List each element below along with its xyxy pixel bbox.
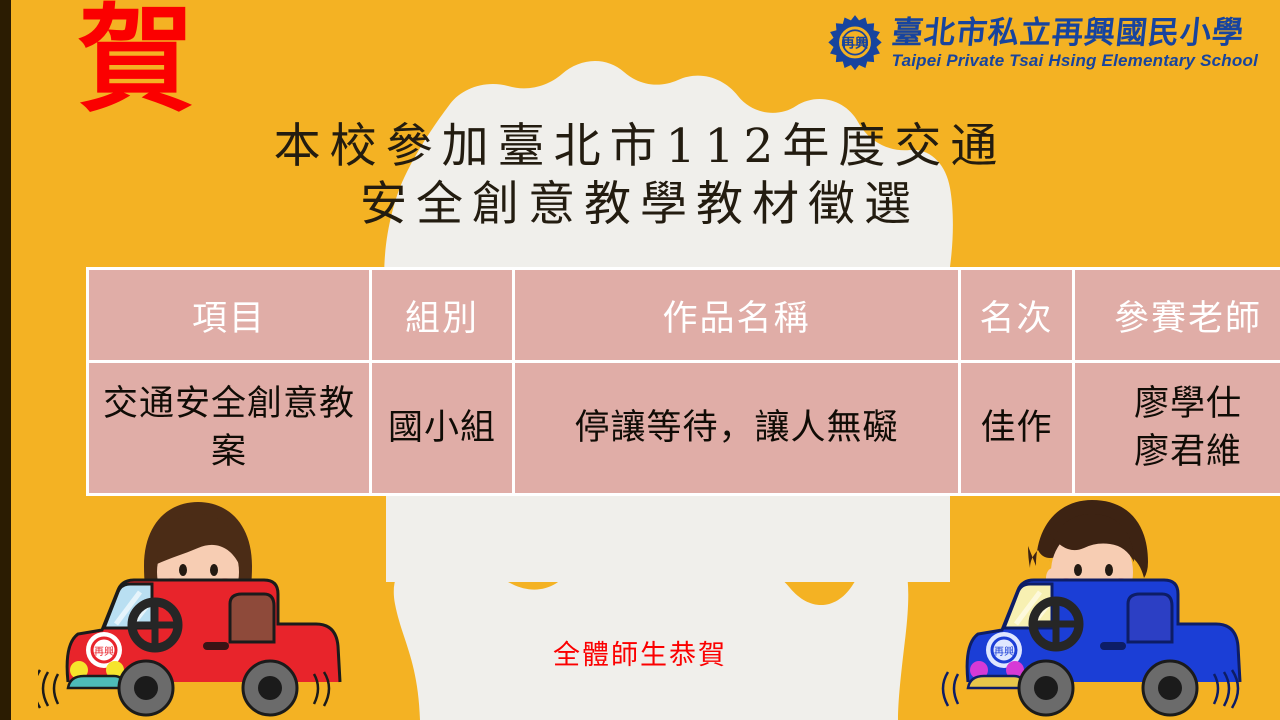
gear-emblem-icon: 再興	[826, 14, 884, 72]
cell-group: 國小組	[372, 363, 515, 496]
school-name-chinese: 臺北市私立再興國民小學	[890, 18, 1260, 49]
column-header-rank: 名次	[961, 267, 1075, 363]
congratulation-poster: 賀 再興 臺北市私立再興國民小學 Taipei Private Tsai Hsi…	[0, 0, 1280, 720]
svg-text:再興: 再興	[994, 646, 1014, 658]
results-table: 項目 組別 作品名稱 名次 參賽老師 交通安全創意教案 國小組 停讓等待，讓人無…	[86, 267, 1280, 496]
left-border-strip	[0, 0, 11, 720]
cell-rank: 佳作	[961, 363, 1075, 496]
column-header-group: 組別	[372, 267, 515, 363]
school-logo: 再興 臺北市私立再興國民小學 Taipei Private Tsai Hsing…	[826, 14, 1258, 72]
column-header-work-title: 作品名稱	[515, 267, 961, 363]
congrats-character: 賀	[78, 2, 194, 118]
school-name-english: Taipei Private Tsai Hsing Elementary Sch…	[892, 52, 1258, 69]
title-line-2: 安全創意教學教材徵選	[0, 176, 1280, 234]
girl-in-red-car-illustration: 再興	[38, 492, 358, 718]
cell-work-title: 停讓等待，讓人無礙	[515, 363, 961, 496]
table-row: 交通安全創意教案 國小組 停讓等待，讓人無礙 佳作 廖學仕 廖君維	[86, 363, 1280, 496]
title-line-1: 本校參加臺北市112年度交通	[0, 118, 1280, 176]
column-header-item: 項目	[86, 267, 372, 363]
cell-item: 交通安全創意教案	[86, 363, 372, 496]
boy-in-blue-car-illustration: 再興	[932, 492, 1252, 718]
svg-text:再興: 再興	[841, 36, 868, 52]
page-title: 本校參加臺北市112年度交通 安全創意教學教材徵選	[0, 118, 1280, 234]
column-header-teachers: 參賽老師	[1075, 267, 1280, 363]
table-header-row: 項目 組別 作品名稱 名次 參賽老師	[86, 267, 1280, 363]
svg-text:再興: 再興	[94, 646, 114, 658]
cell-teachers: 廖學仕 廖君維	[1075, 363, 1280, 496]
